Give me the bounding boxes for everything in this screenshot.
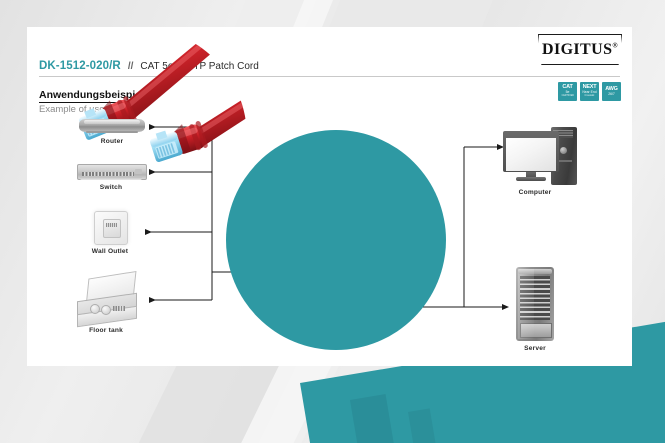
switch-label: Switch [77,184,145,191]
server-label: Server [495,345,575,352]
computer-power-button-icon [560,147,567,154]
wall-outlet-jack [106,223,117,227]
device-floor-tank: Floor tank [75,275,137,335]
floor-tank-jack [113,306,125,311]
computer-monitor-icon [503,131,559,172]
application-diagram: Router Switch Wall Outlet [27,27,632,366]
product-highlight-circle [226,130,446,350]
floor-tank-module [101,305,111,315]
device-wall-outlet: Wall Outlet [94,211,126,259]
wall-outlet-icon [94,211,128,245]
computer-label: Computer [497,189,573,196]
computer-screen [506,138,556,171]
screenshot-root: DIGITUS® DK-1512-020/R // CAT 5e U/UTP P… [0,0,665,443]
device-router: Router [79,119,145,145]
router-label: Router [79,138,145,145]
switch-base [80,177,142,180]
device-computer: Computer [503,127,579,197]
wall-outlet-label: Wall Outlet [65,248,155,255]
switch-ports [82,172,134,176]
monitor-stand-base [516,177,546,181]
floor-tank-label: Floor tank [75,327,137,334]
device-switch: Switch [77,164,145,192]
switch-led [135,169,142,174]
router-base [86,131,138,133]
wall-outlet-insert [103,219,121,238]
server-highlight [518,269,534,339]
floor-tank-module [90,304,100,314]
device-server: Server [516,267,554,355]
server-icon [516,267,554,341]
content-card: DIGITUS® DK-1512-020/R // CAT 5e U/UTP P… [27,27,632,366]
router-top-panel [84,120,140,124]
